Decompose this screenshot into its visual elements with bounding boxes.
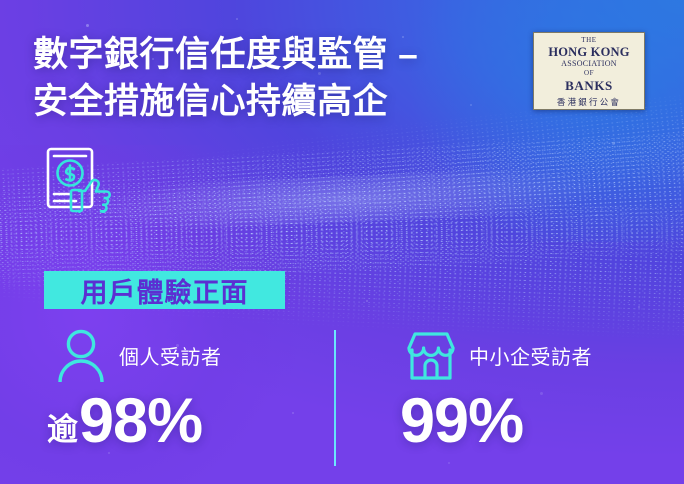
person-icon [55, 328, 107, 382]
stat-header-sme: 中小企受訪者 [405, 326, 592, 384]
status-badge: 用戶體驗正面 [44, 271, 285, 309]
stat-label-individual: 個人受訪者 [119, 341, 222, 370]
stat-number-individual: 98% [79, 390, 202, 453]
infographic-canvas: 數字銀行信任度與監管 – 安全措施信心持續高企 THE HONG KONG AS… [0, 0, 684, 484]
logo-line-chinese: 香港銀行公會 [557, 97, 621, 108]
stat-number-sme: 99% [400, 390, 523, 453]
money-thumbs-up-icon [43, 143, 115, 213]
storefront-icon [405, 328, 457, 382]
logo-line-association: ASSOCIATION [561, 59, 617, 69]
page-title: 數字銀行信任度與監管 – 安全措施信心持續高企 [33, 31, 503, 125]
logo-line-hong-kong: HONG KONG [548, 45, 629, 59]
logo-line-of: OF [584, 69, 594, 78]
stat-block-sme: 中小企受訪者 99% [405, 326, 592, 453]
logo-line-banks: BANKS [565, 78, 613, 93]
stat-header-individual: 個人受訪者 [55, 326, 222, 384]
stat-label-sme: 中小企受訪者 [469, 341, 592, 370]
logo-line-the: THE [581, 36, 596, 45]
stat-block-individual: 個人受訪者 逾 98% [55, 326, 222, 453]
stats-divider [334, 330, 336, 466]
hkab-logo: THE HONG KONG ASSOCIATION OF BANKS 香港銀行公… [533, 32, 645, 110]
stat-value-sme: 99% [399, 390, 592, 453]
stat-prefix-individual: 逾 [47, 414, 78, 445]
stat-value-individual: 逾 98% [47, 390, 222, 453]
